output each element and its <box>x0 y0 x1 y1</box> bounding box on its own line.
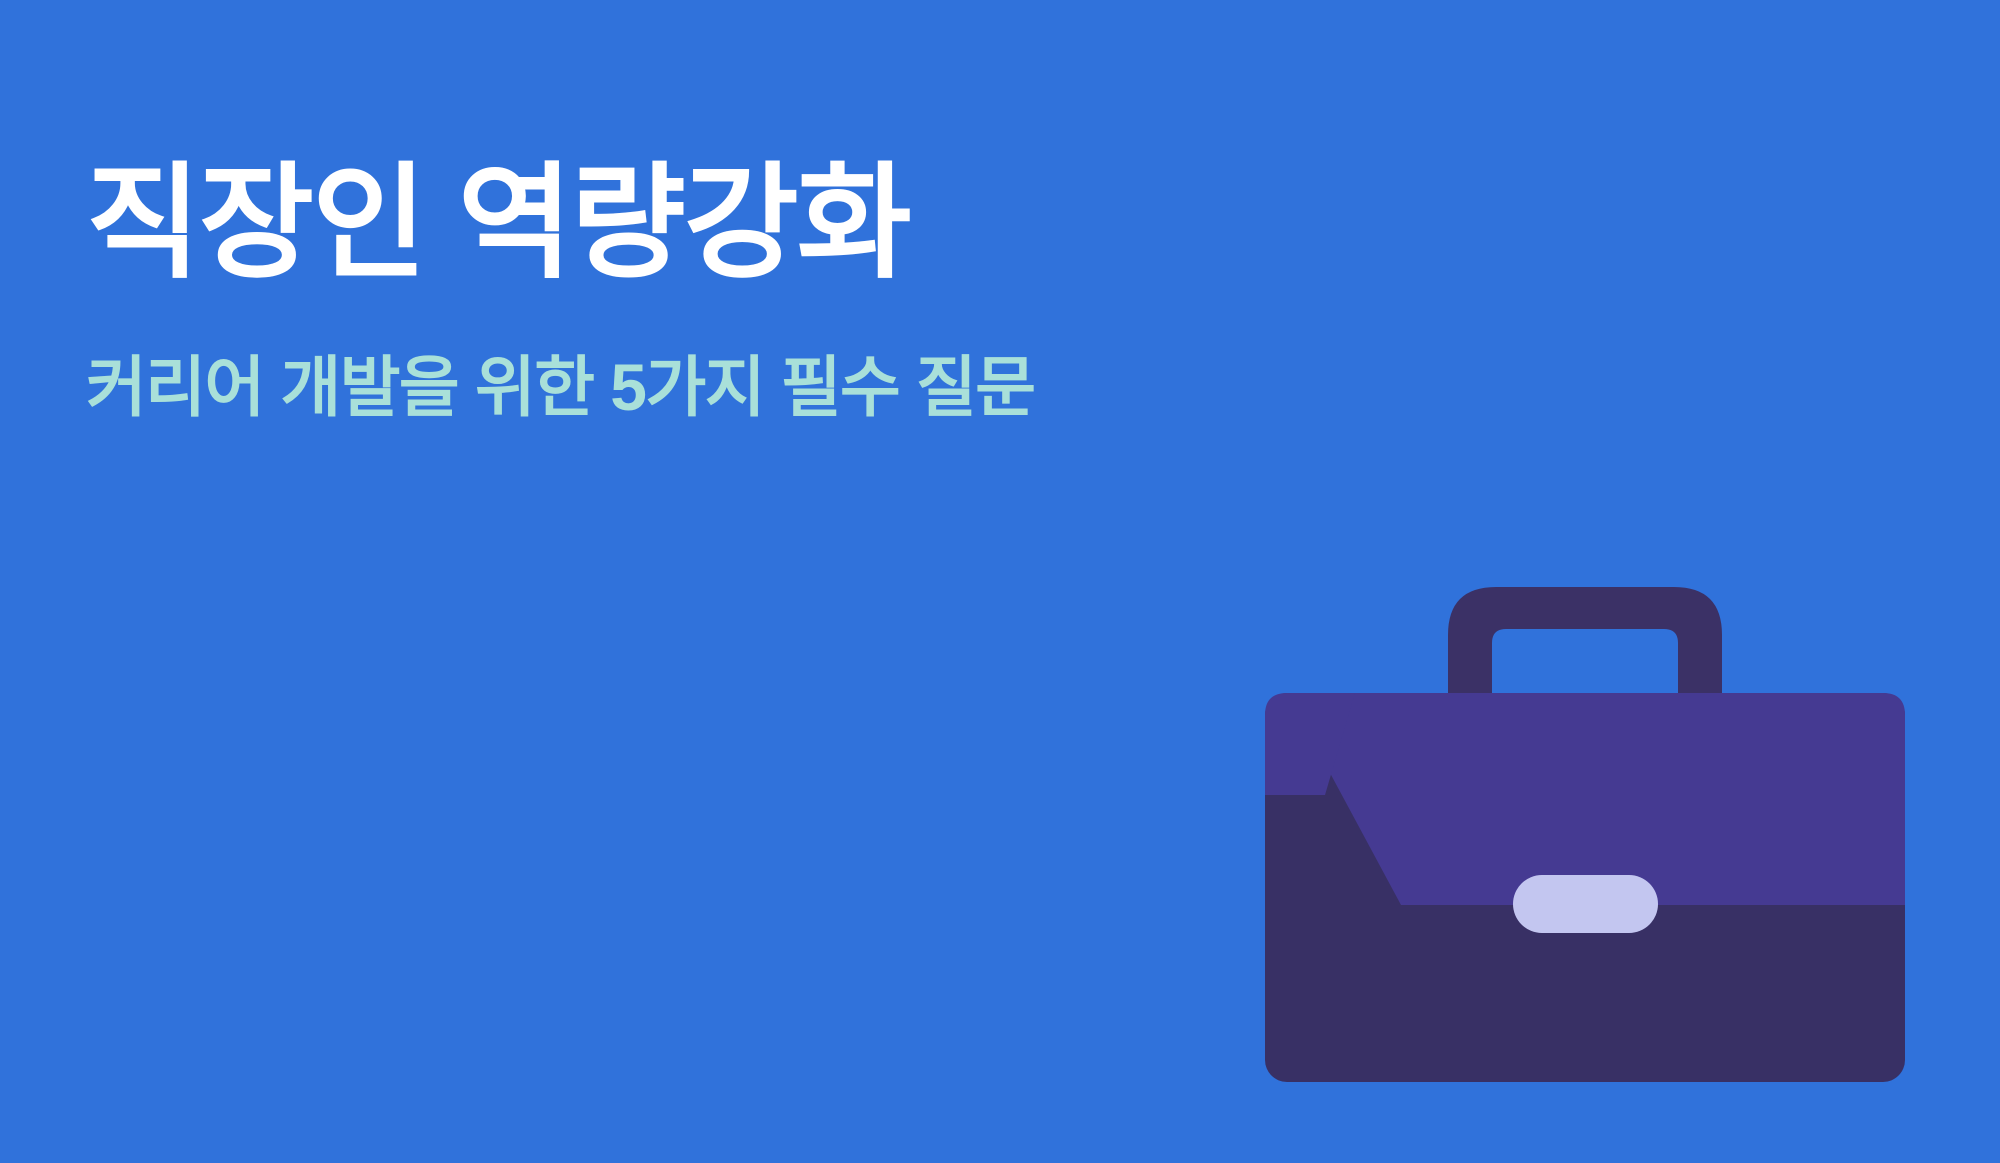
briefcase-clasp-icon <box>1513 875 1658 933</box>
page-title: 직장인 역량강화 <box>86 150 1236 298</box>
briefcase-illustration <box>1265 565 1905 1095</box>
briefcase-handle-icon <box>1448 587 1722 705</box>
promo-banner: 직장인 역량강화 커리어 개발을 위한 5가지 필수 질문 <box>0 0 2000 1163</box>
banner-text-block: 직장인 역량강화 커리어 개발을 위한 5가지 필수 질문 <box>86 150 1236 428</box>
page-subtitle: 커리어 개발을 위한 5가지 필수 질문 <box>86 298 1236 429</box>
